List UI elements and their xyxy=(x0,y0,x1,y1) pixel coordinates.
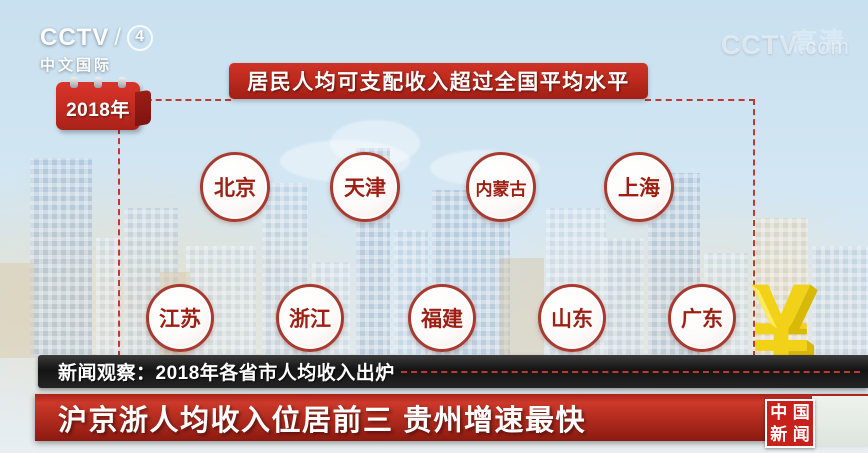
province-badge-inner-mongolia[interactable]: 内蒙古 xyxy=(466,152,536,222)
dashed-line-vertical-left xyxy=(118,128,120,357)
building-shape xyxy=(30,158,92,358)
program-logo-panel xyxy=(812,396,868,446)
building-shape xyxy=(500,258,544,358)
topic-bar: 新闻观察：2018年各省市人均收入出炉 xyxy=(38,355,868,388)
program-logo-char: 中 xyxy=(768,402,790,423)
province-badge-shandong[interactable]: 山东 xyxy=(538,284,606,352)
cctv-wordmark: CCTV xyxy=(40,24,109,52)
province-label: 江苏 xyxy=(159,303,201,333)
dashed-line-right xyxy=(645,99,755,101)
watermark-domain: .com xyxy=(798,34,850,59)
topic-dashed-trail xyxy=(401,371,860,373)
province-label: 福建 xyxy=(421,303,463,333)
banner-title: 居民人均可支配收入超过全国平均水平 xyxy=(247,66,630,96)
province-label: 北京 xyxy=(214,172,256,202)
province-badge-beijing[interactable]: 北京 xyxy=(200,152,270,222)
watermark-text: CCTV xyxy=(721,30,799,60)
province-label: 山东 xyxy=(551,303,593,333)
channel-subtitle: 中文国际 xyxy=(40,54,160,75)
province-label: 广东 xyxy=(681,303,723,333)
building-shape xyxy=(0,263,34,358)
calendar-ring-icon xyxy=(94,77,102,88)
cctv4-channel-logo: CCTV / 4 中文国际 xyxy=(40,24,160,76)
channel-number: 4 xyxy=(127,25,153,51)
calendar-ring-icon xyxy=(70,77,78,88)
province-badge-fujian[interactable]: 福建 xyxy=(408,284,476,352)
year-calendar-tag: 2018年 xyxy=(56,82,140,130)
province-badge-tianjin[interactable]: 天津 xyxy=(330,152,400,222)
cctv-com-watermark: CCTV.com xyxy=(721,30,850,61)
province-label: 浙江 xyxy=(289,303,331,333)
province-badge-jiangsu[interactable]: 江苏 xyxy=(146,284,214,352)
headline-banner: 居民人均可支配收入超过全国平均水平 xyxy=(229,63,648,99)
program-logo: 中 国 新 闻 xyxy=(765,399,815,448)
program-logo-char: 新 xyxy=(768,424,790,445)
building-shape xyxy=(604,238,644,358)
topic-text: 新闻观察：2018年各省市人均收入出炉 xyxy=(58,358,395,385)
province-label: 内蒙古 xyxy=(476,175,527,200)
broadcast-screen: 2018年 居民人均可支配收入超过全国平均水平 北京 天津 内蒙古 上海 江苏 … xyxy=(0,0,868,453)
program-logo-char: 闻 xyxy=(791,424,813,445)
logo-divider-icon: / xyxy=(114,24,122,52)
province-badge-guangdong[interactable]: 广东 xyxy=(668,284,736,352)
program-logo-char: 国 xyxy=(791,402,813,423)
province-label: 上海 xyxy=(618,172,660,202)
province-badge-shanghai[interactable]: 上海 xyxy=(604,152,674,222)
province-label: 天津 xyxy=(344,172,386,202)
calendar-ring-icon xyxy=(118,77,126,88)
province-badge-zhejiang[interactable]: 浙江 xyxy=(276,284,344,352)
headline-bar: 沪京浙人均收入位居前三 贵州增速最快 xyxy=(35,394,868,441)
headline-text: 沪京浙人均收入位居前三 贵州增速最快 xyxy=(58,397,586,439)
year-label: 2018年 xyxy=(56,95,140,122)
